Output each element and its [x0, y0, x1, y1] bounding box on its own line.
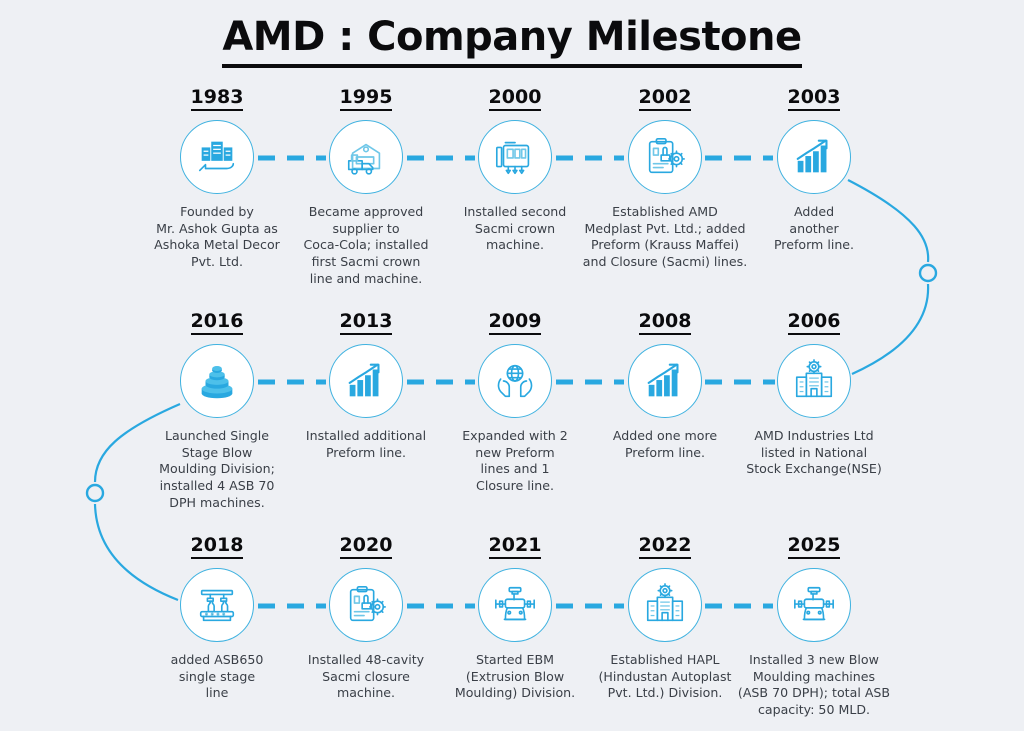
infographic-canvas: AMD : Company Milestone [0, 0, 1024, 731]
milestone-year: 2018 [191, 536, 244, 559]
growth-chart-icon [642, 358, 688, 404]
milestone-year: 2002 [639, 88, 692, 111]
milestone-year: 2009 [489, 312, 542, 335]
growth-chart-icon [791, 134, 837, 180]
milestone-year: 2022 [639, 536, 692, 559]
milestone-icon-bubble[interactable] [478, 120, 552, 194]
milestone-2003[interactable]: 2003 Added another Preform line. [734, 88, 894, 254]
milestone-description: Added another Preform line. [734, 204, 894, 254]
building-in-hand-icon [194, 134, 240, 180]
growth-chart-icon [343, 358, 389, 404]
page-title-text: AMD : Company Milestone [222, 14, 801, 68]
milestone-description: Started EBM (Extrusion Blow Moulding) Di… [435, 652, 595, 702]
milestone-year: 2003 [788, 88, 841, 111]
milestone-2006[interactable]: 2006 AMD Industries Ltd listed in Nation… [734, 312, 894, 478]
milestone-icon-bubble[interactable] [329, 568, 403, 642]
milestone-icon-bubble[interactable] [180, 120, 254, 194]
milestone-description: Launched Single Stage Blow Moulding Divi… [137, 428, 297, 512]
milestone-2016[interactable]: 2016 Launched Single Stage Blow Moulding… [137, 312, 297, 512]
milestone-2022[interactable]: 2022 Established HAPL (Hindustan Autopla… [585, 536, 745, 702]
milestone-icon-bubble[interactable] [628, 120, 702, 194]
milestone-2013[interactable]: 2013 Installed additional Preform line. [286, 312, 446, 461]
milestone-description: Established AMD Medplast Pvt. Ltd.; adde… [577, 204, 753, 271]
wrap-node-left [87, 485, 103, 501]
milestone-icon-bubble[interactable] [478, 344, 552, 418]
milestone-icon-bubble[interactable] [628, 568, 702, 642]
building-gear-icon [791, 358, 837, 404]
blow-moulding-machine-icon [492, 582, 538, 628]
bottle-conveyor-icon [194, 582, 240, 628]
milestone-2025[interactable]: 2025 Installed 3 new Blow Moulding machi… [734, 536, 894, 719]
milestone-year: 2000 [489, 88, 542, 111]
milestone-2021[interactable]: 2021 Started EBM (Extrusion Blow Mouldin… [435, 536, 595, 702]
milestone-description: Became approved supplier to Coca-Cola; i… [286, 204, 446, 288]
milestone-icon-bubble[interactable] [180, 568, 254, 642]
milestone-year: 2013 [340, 312, 393, 335]
wrap-node-right [920, 265, 936, 281]
milestone-icon-bubble[interactable] [329, 120, 403, 194]
milestone-description: Expanded with 2 new Preform lines and 1 … [435, 428, 595, 495]
milestone-2020[interactable]: 2020 Installed 48-cavity Sacmi closure m… [286, 536, 446, 702]
milestone-description: Founded by Mr. Ashok Gupta as Ashoka Met… [137, 204, 297, 271]
milestone-icon-bubble[interactable] [628, 344, 702, 418]
milestone-icon-bubble[interactable] [777, 568, 851, 642]
milestone-1983[interactable]: 1983 Founded by Mr. Ashok Gupta as Ashok… [137, 88, 297, 271]
milestone-description: Installed 48-cavity Sacmi closure machin… [286, 652, 446, 702]
blow-moulding-machine-icon [791, 582, 837, 628]
milestone-description: Established HAPL (Hindustan Autoplast Pv… [585, 652, 745, 702]
milestone-icon-bubble[interactable] [329, 344, 403, 418]
milestone-icon-bubble[interactable] [777, 120, 851, 194]
layered-mould-icon [194, 358, 240, 404]
crown-machine-icon [492, 134, 538, 180]
milestone-year: 2021 [489, 536, 542, 559]
milestone-icon-bubble[interactable] [777, 344, 851, 418]
milestone-description: added ASB650 single stage line [137, 652, 297, 702]
milestone-2008[interactable]: 2008 Added one more Preform line. [585, 312, 745, 461]
milestone-description: Added one more Preform line. [585, 428, 745, 461]
delivery-truck-warehouse-icon [343, 134, 389, 180]
milestone-year: 1995 [340, 88, 393, 111]
milestone-2009[interactable]: 2009 Expanded with 2 new Preform lines a… [435, 312, 595, 495]
clipboard-gear-icon [343, 582, 389, 628]
clipboard-gear-icon [642, 134, 688, 180]
milestone-description: AMD Industries Ltd listed in National St… [734, 428, 894, 478]
milestone-2002[interactable]: 2002 Established AMD Medplast Pvt. Ltd.;… [585, 88, 745, 271]
milestone-2018[interactable]: 2018 added ASB650 single stage line [137, 536, 297, 702]
milestone-description: Installed 3 new Blow Moulding machines (… [726, 652, 902, 719]
milestone-icon-bubble[interactable] [180, 344, 254, 418]
milestone-icon-bubble[interactable] [478, 568, 552, 642]
milestone-1995[interactable]: 1995 Became approved supplier to Coca-Co… [286, 88, 446, 288]
milestone-year: 2006 [788, 312, 841, 335]
milestone-year: 2025 [788, 536, 841, 559]
milestone-2000[interactable]: 2000 Installed second Sacmi crown machin… [435, 88, 595, 254]
milestone-description: Installed additional Preform line. [286, 428, 446, 461]
milestone-year: 2008 [639, 312, 692, 335]
building-gear-icon [642, 582, 688, 628]
page-title: AMD : Company Milestone [0, 14, 1024, 60]
milestone-description: Installed second Sacmi crown machine. [435, 204, 595, 254]
milestone-year: 2016 [191, 312, 244, 335]
milestone-year: 2020 [340, 536, 393, 559]
globe-in-hands-icon [492, 358, 538, 404]
milestone-year: 1983 [191, 88, 244, 111]
